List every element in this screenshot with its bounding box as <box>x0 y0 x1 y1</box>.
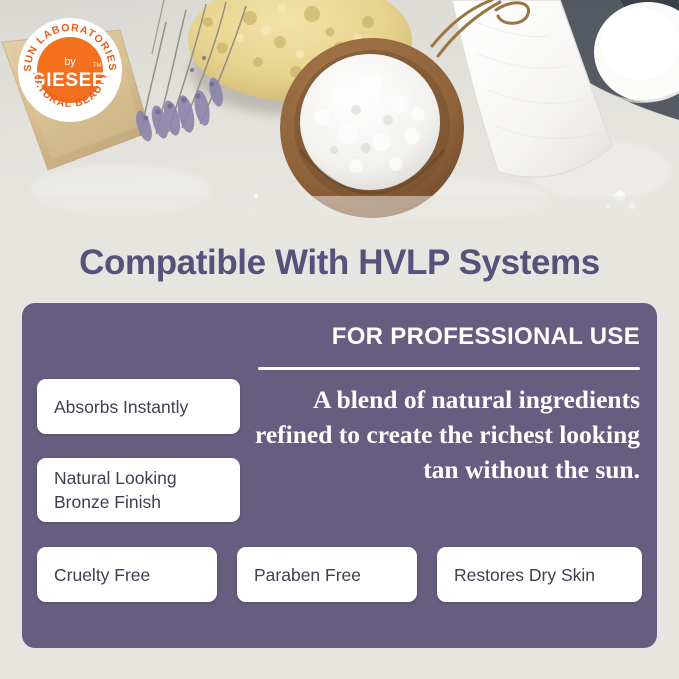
badge-center-brand: GIESEE <box>31 70 105 91</box>
brand-badge-logo: SUN LABORATORIES · NATURAL BEAUTY · by G… <box>17 17 123 123</box>
feature-pill-cruelty-free[interactable]: Cruelty Free <box>37 547 217 602</box>
brand-badge: SUN LABORATORIES · NATURAL BEAUTY · by G… <box>17 17 123 123</box>
feature-pill-label: Paraben Free <box>254 563 361 587</box>
badge-trademark-icon: TM <box>93 63 102 69</box>
feature-pill-label: Restores Dry Skin <box>454 563 595 587</box>
feature-pill-label: Natural LookingBronze Finish <box>54 466 177 514</box>
badge-center-by: by <box>64 56 76 68</box>
feature-pill-paraben-free[interactable]: Paraben Free <box>237 547 417 602</box>
feature-pill-absorbs-instantly[interactable]: Absorbs Instantly <box>37 379 240 434</box>
product-feature-card: SUN LABORATORIES · NATURAL BEAUTY · by G… <box>0 0 679 679</box>
feature-pill-restores-dry-skin[interactable]: Restores Dry Skin <box>437 547 642 602</box>
product-blurb: A blend of natural ingredients refined t… <box>232 382 640 487</box>
page-title: Compatible With HVLP Systems <box>0 243 679 283</box>
feature-panel: FOR PROFESSIONAL USE A blend of natural … <box>22 303 657 648</box>
professional-use-heading: FOR PROFESSIONAL USE <box>258 323 640 351</box>
feature-pill-label: Cruelty Free <box>54 563 150 587</box>
heading-divider <box>258 367 640 370</box>
feature-pill-natural-looking-bronze-finish[interactable]: Natural LookingBronze Finish <box>37 458 240 522</box>
feature-pill-label: Absorbs Instantly <box>54 395 188 419</box>
